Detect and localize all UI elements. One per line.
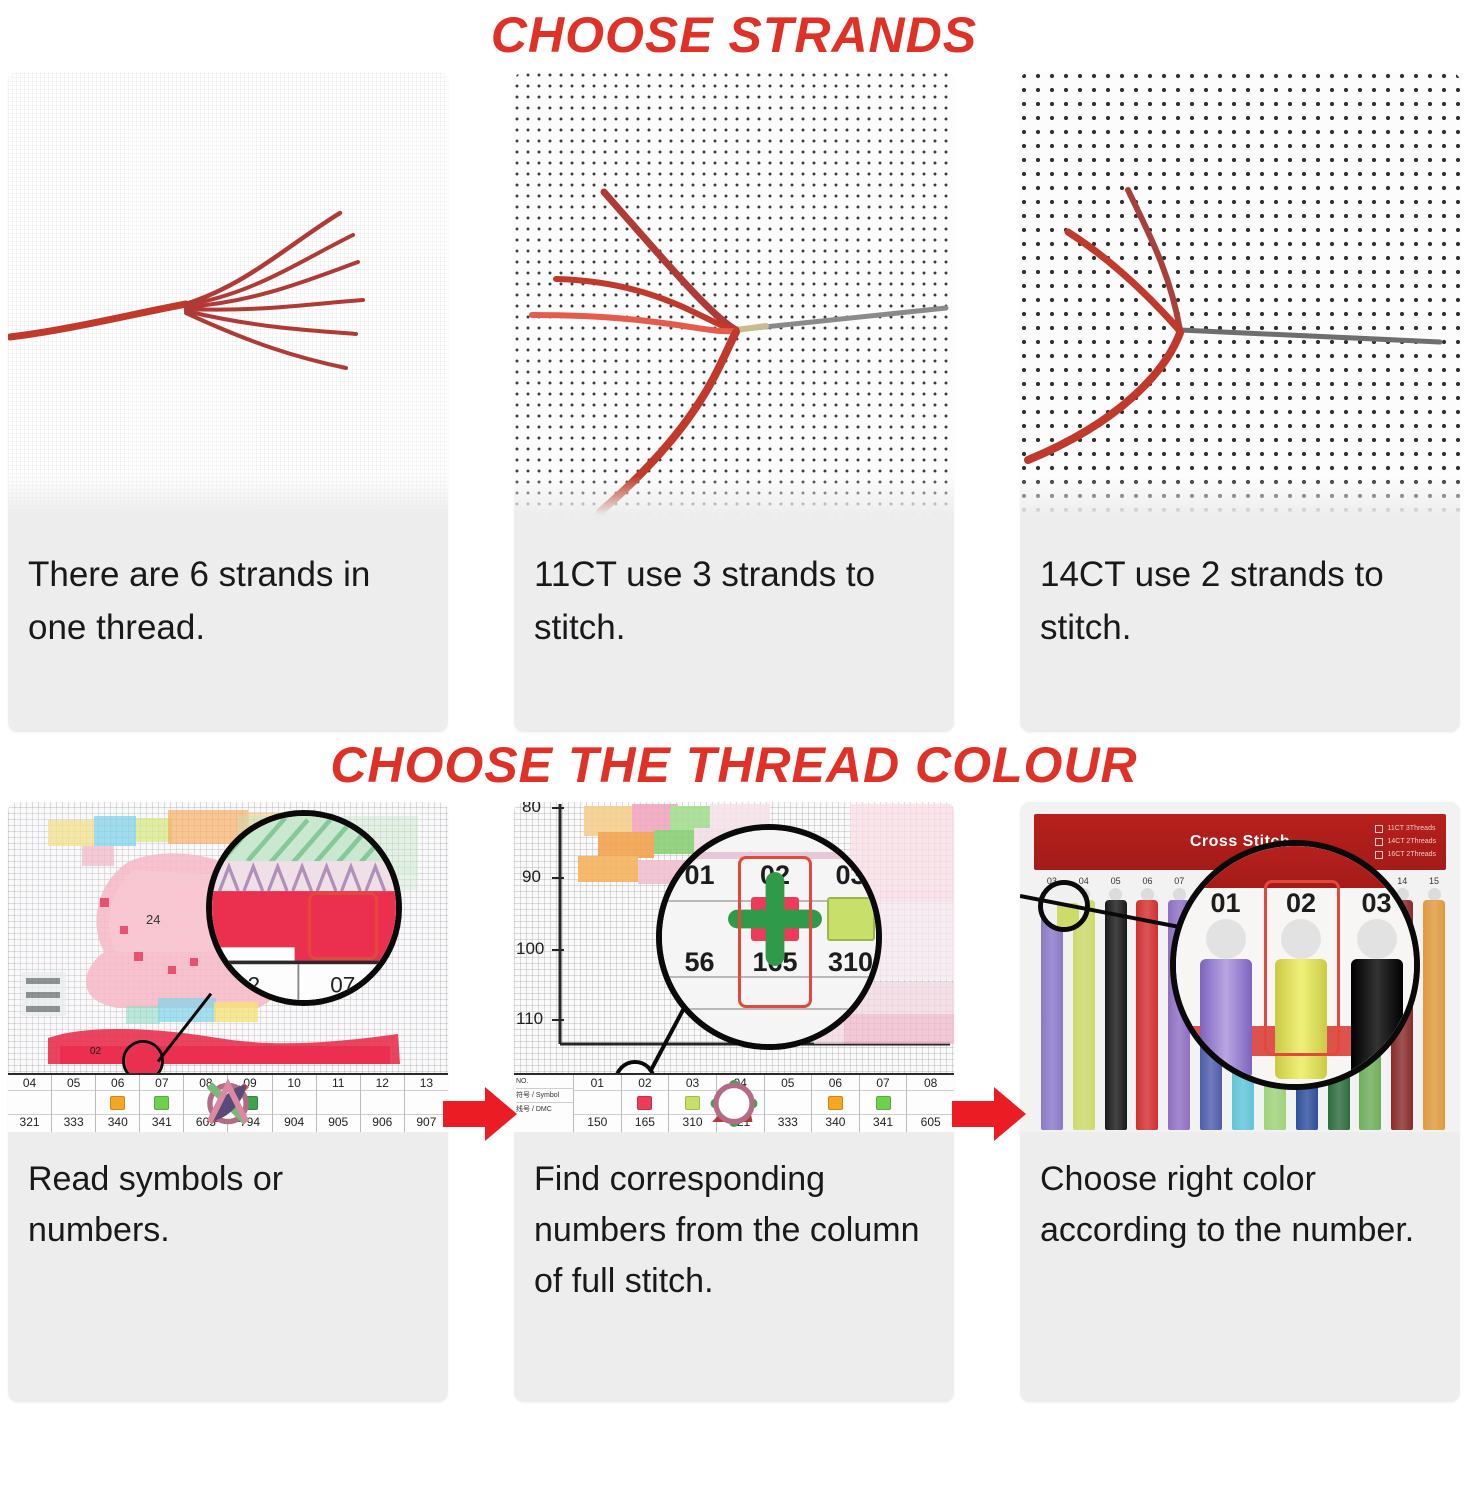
- caption-read-symbols: Read symbols or numbers.: [8, 1132, 448, 1402]
- photo-floss-organizer: Cross Stitch 11CT 3Threads 14CT 2Threads: [1020, 802, 1460, 1132]
- card-choose-colour: Cross Stitch 11CT 3Threads 14CT 2Threads: [1020, 802, 1460, 1402]
- card-11ct-three-strands: 11CT use 3 strands to stitch.: [514, 72, 954, 732]
- floss-skein: [1041, 900, 1063, 1130]
- infographic-page: CHOOSE STRANDS: [0, 0, 1468, 1500]
- svg-text:80: 80: [522, 802, 541, 816]
- card-read-symbols: 24 02: [8, 802, 448, 1402]
- photo-six-strands: [8, 72, 448, 522]
- magnifier-highlight-rect: [1264, 880, 1340, 1056]
- organizer-skein: [1418, 900, 1450, 1130]
- organizer-skein: [1132, 900, 1164, 1130]
- hook-hole-icon: [1357, 919, 1397, 959]
- organizer-skein: [1068, 900, 1100, 1130]
- svg-text:07: 07: [330, 972, 355, 997]
- checkbox-icon[interactable]: [1375, 825, 1383, 833]
- floss-skein-01: [1200, 959, 1252, 1079]
- two-strands-needle-illustration: [1020, 72, 1460, 522]
- magnifier-zoom-circle: 01 02 03: [1170, 840, 1420, 1090]
- card-14ct-two-strands: 14CT use 2 strands to stitch.: [1020, 72, 1460, 732]
- photo-fade: [8, 476, 448, 522]
- svg-text:02: 02: [90, 1046, 102, 1057]
- organizer-number: 05: [1100, 876, 1132, 886]
- organizer-checkbox-11ct: 11CT 3Threads: [1375, 822, 1436, 835]
- svg-text:2: 2: [248, 972, 261, 997]
- caption-14ct-two-strands: 14CT use 2 strands to stitch.: [1020, 522, 1460, 732]
- legend-cell: 13907: [405, 1075, 448, 1132]
- magnified-column-01: 01 56: [662, 860, 737, 978]
- organizer-skein: [1100, 900, 1132, 1130]
- section-title-choose-strands: CHOOSE STRANDS: [0, 0, 1468, 72]
- photo-fade: [1020, 476, 1460, 522]
- organizer-skein: [1036, 900, 1068, 1130]
- legend-fullstitch-table: NO.符号 / Symbol线号 / DMC011500216503310043…: [514, 1073, 954, 1132]
- legend-cell: 08605: [907, 1075, 954, 1132]
- card-six-strands: There are 6 strands in one thread.: [8, 72, 448, 732]
- photo-pattern-canvas: 24 02: [8, 802, 448, 1132]
- svg-text:100: 100: [516, 939, 544, 958]
- photo-pattern-chart: 80 90 100 110: [514, 802, 954, 1132]
- magnifier-highlight-rect: [738, 856, 812, 1008]
- card-find-numbers: 80 90 100 110: [514, 802, 954, 1402]
- symbol-swatch-01: [662, 891, 737, 947]
- photo-fade: [514, 476, 954, 522]
- colour-card-row: 24 02: [0, 802, 1468, 1402]
- hook-hole-icon: [1206, 919, 1246, 959]
- six-strands-illustration: [8, 72, 448, 522]
- organizer-number: 15: [1418, 876, 1450, 886]
- magnified-floss-01: 01: [1188, 888, 1263, 1079]
- magnified-floss-03: 03: [1339, 888, 1414, 1079]
- legend-symbol-icon: [405, 1091, 448, 1115]
- arrow-right-icon-2: [952, 1085, 1026, 1143]
- legend-symbol-icon: [907, 1091, 954, 1115]
- magnifier-highlight-rect: [308, 892, 378, 960]
- checkbox-icon[interactable]: [1375, 838, 1383, 846]
- floss-skein: [1136, 900, 1158, 1130]
- caption-find-numbers: Find corresponding numbers from the colu…: [514, 1132, 954, 1402]
- caption-six-strands: There are 6 strands in one thread.: [8, 522, 448, 732]
- svg-text:110: 110: [516, 1009, 543, 1028]
- photo-11ct-three-strands: [514, 72, 954, 522]
- floss-skein-03: [1351, 959, 1403, 1079]
- strands-card-row: There are 6 strands in one thread.: [0, 72, 1468, 732]
- floss-skein: [1105, 900, 1127, 1130]
- floss-skein: [1423, 900, 1445, 1130]
- three-strands-needle-illustration: [514, 72, 954, 522]
- magnifier-zoom-circle: 2 07: [206, 810, 402, 1006]
- floss-skein: [1073, 900, 1095, 1130]
- caption-choose-colour: Choose right color according to the numb…: [1020, 1132, 1460, 1402]
- canvas-number-label: 24: [146, 912, 160, 927]
- magnifier-zoom-circle: 01 56 02 165 03: [656, 824, 882, 1050]
- arrow-right-icon-1: [443, 1085, 517, 1143]
- caption-11ct-three-strands: 11CT use 3 strands to stitch.: [514, 522, 954, 732]
- legend-symbols-table: 0432105333063400734108605097941090411905…: [8, 1073, 448, 1132]
- section-title-choose-thread-colour: CHOOSE THE THREAD COLOUR: [0, 732, 1468, 802]
- organizer-number: 06: [1132, 876, 1164, 886]
- photo-14ct-two-strands: [1020, 72, 1460, 522]
- svg-text:90: 90: [522, 867, 541, 886]
